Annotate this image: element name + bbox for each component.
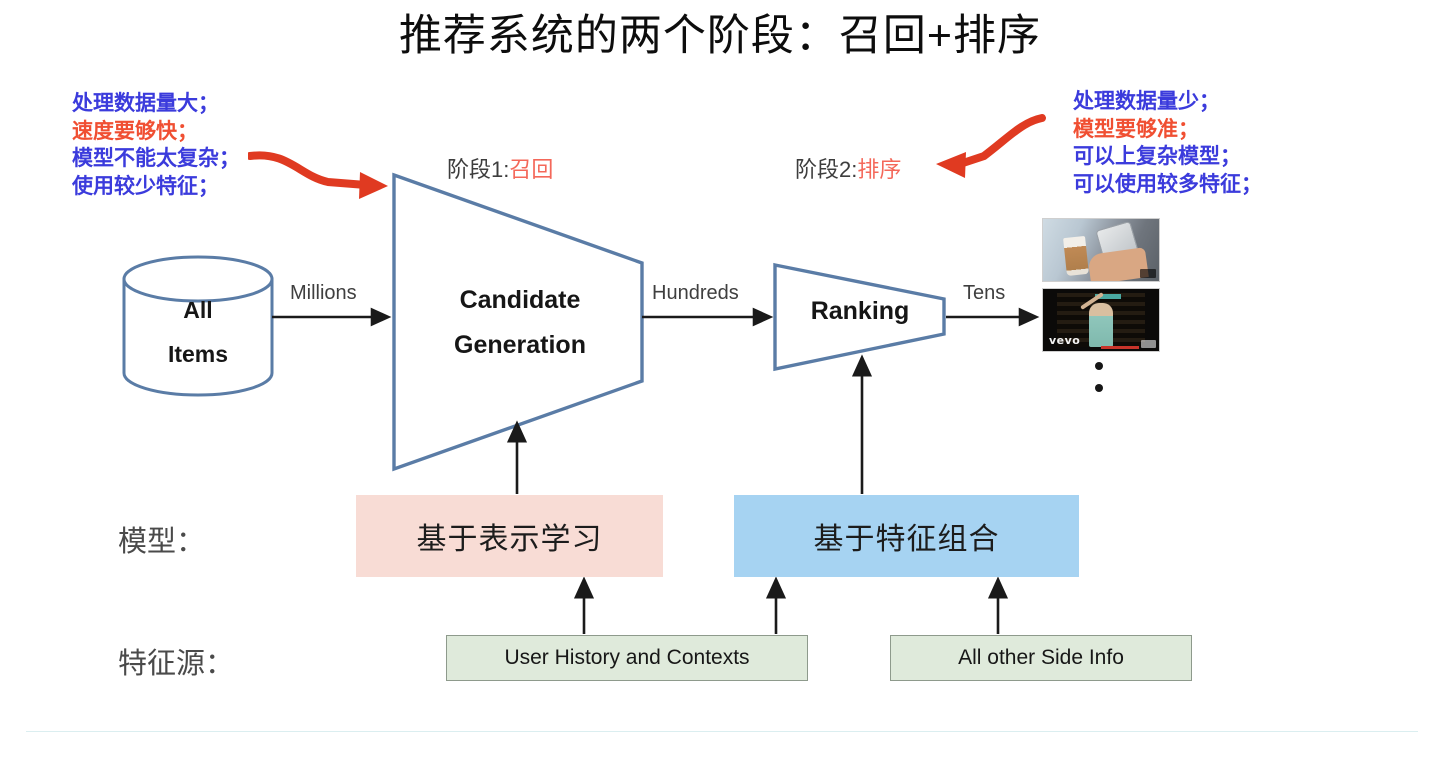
all-items-line1: All bbox=[118, 288, 278, 332]
hundreds-edge-label: Hundreds bbox=[652, 282, 739, 305]
vevo-logo: vevo bbox=[1049, 334, 1080, 347]
dancer-shape bbox=[1089, 303, 1113, 347]
feature-source-row-label: 特征源： bbox=[118, 640, 234, 682]
all-items-label: All Items bbox=[118, 288, 278, 376]
model-box-representation-learning: 基于表示学习 bbox=[356, 495, 663, 577]
model-box-feature-combination: 基于特征组合 bbox=[734, 495, 1079, 577]
ranking-label: Ranking bbox=[780, 290, 940, 332]
feature-box-user-history: User History and Contexts bbox=[446, 635, 808, 681]
slide-canvas: 推荐系统的两个阶段：召回+排序 处理数据量大； 速度要够快； 模型不能太复杂； … bbox=[0, 0, 1440, 771]
coffee-cup-icon bbox=[1063, 236, 1089, 276]
bottom-divider bbox=[26, 731, 1418, 732]
candidate-generation-label: Candidate Generation bbox=[405, 278, 635, 368]
millions-edge-label: Millions bbox=[290, 282, 357, 305]
vevo-music-video-thumbnail: vevo bbox=[1042, 288, 1160, 352]
duration-badge bbox=[1140, 269, 1156, 278]
ellipsis-dot bbox=[1095, 362, 1103, 370]
phone-coffee-thumbnail bbox=[1042, 218, 1160, 282]
all-items-line2: Items bbox=[118, 332, 278, 376]
more-results-ellipsis bbox=[1095, 362, 1109, 406]
candidate-generation-line1: Candidate bbox=[405, 278, 635, 323]
tens-edge-label: Tens bbox=[963, 282, 1005, 305]
ellipsis-dot bbox=[1095, 384, 1103, 392]
progress-bar bbox=[1101, 346, 1139, 349]
model-row-label: 模型： bbox=[118, 518, 205, 560]
feature-box-side-info: All other Side Info bbox=[890, 635, 1192, 681]
duration-badge bbox=[1141, 340, 1156, 348]
candidate-generation-line2: Generation bbox=[405, 323, 635, 368]
